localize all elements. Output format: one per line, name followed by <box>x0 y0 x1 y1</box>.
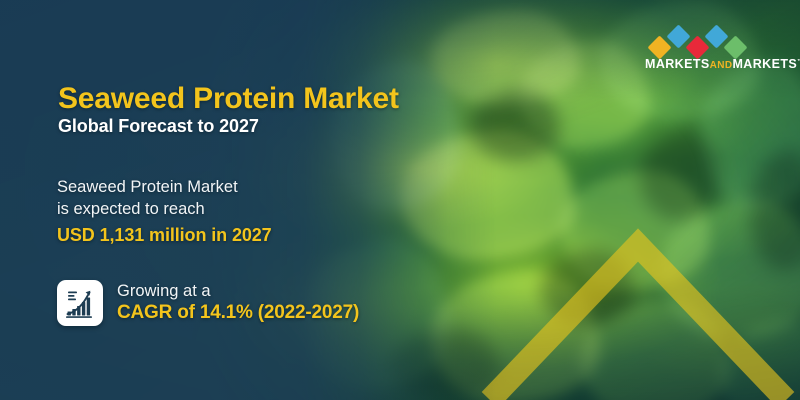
market-value-line-1: Seaweed Protein Market <box>57 176 272 198</box>
market-value-block: Seaweed Protein Market is expected to re… <box>57 176 272 246</box>
cagr-block: Growing at a CAGR of 14.1% (2022-2027) <box>57 280 359 326</box>
seaweed-protein-market-banner: MARKETSANDMARKETS™ Seaweed Protein Marke… <box>0 0 800 400</box>
page-title: Seaweed Protein Market <box>58 82 399 116</box>
logo-word-markets-2: MARKETS <box>732 57 797 71</box>
logo-word-markets-1: MARKETS <box>645 57 710 71</box>
cagr-value: CAGR of 14.1% (2022-2027) <box>117 302 359 324</box>
cagr-label: Growing at a <box>117 282 359 301</box>
diamond-yellow <box>647 35 671 59</box>
page-subtitle: Global Forecast to 2027 <box>58 116 259 137</box>
logo-diamonds <box>645 26 785 56</box>
diamond-red <box>685 35 709 59</box>
banner-content: Seaweed Protein Market Global Forecast t… <box>0 0 470 400</box>
diamond-green <box>723 35 747 59</box>
market-value-highlight: USD 1,131 million in 2027 <box>57 225 272 246</box>
logo-wordmark: MARKETSANDMARKETS™ <box>645 57 800 71</box>
marketsandmarkets-logo[interactable]: MARKETSANDMARKETS™ <box>645 26 785 76</box>
cagr-text: Growing at a CAGR of 14.1% (2022-2027) <box>117 282 359 324</box>
logo-word-and: AND <box>710 60 733 71</box>
growth-chart-icon <box>57 280 103 326</box>
market-value-line-2: is expected to reach <box>57 198 272 220</box>
